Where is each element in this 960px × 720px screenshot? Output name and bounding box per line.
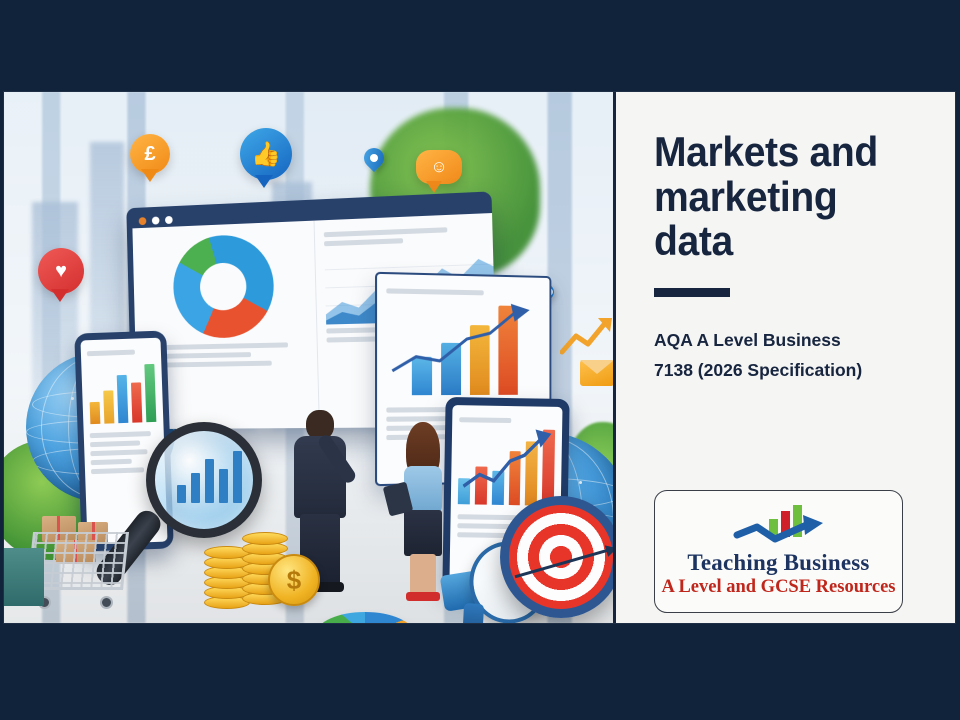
- browser-dot-maximize: [165, 215, 173, 223]
- placeholder-text-line: [91, 467, 144, 474]
- magnified-bar: [177, 485, 186, 503]
- gold-coin: [242, 532, 288, 545]
- phone-bar: [103, 390, 114, 423]
- placeholder-text-line: [386, 288, 483, 295]
- placeholder-text-line: [90, 440, 140, 447]
- placeholder-text-line: [459, 417, 511, 423]
- businesswoman-skirt: [404, 510, 442, 556]
- placeholder-text-line: [90, 449, 147, 456]
- dartboard-target: [500, 496, 616, 618]
- cart-wheel: [100, 596, 113, 609]
- shopping-cart: [12, 510, 140, 622]
- phone-bar: [131, 382, 142, 422]
- envelope-icon: [580, 360, 614, 386]
- donut-chart: [172, 233, 275, 339]
- board-bar-group: [386, 298, 541, 396]
- logo-tagline: A Level and GCSE Resources: [661, 576, 895, 598]
- title-accent-bar: [654, 288, 730, 297]
- slide-root: £ 👍 ♥ ☺ 🌐: [0, 0, 960, 720]
- browser-dot-minimize: [152, 216, 160, 224]
- magnified-bar: [233, 451, 242, 503]
- logo-card[interactable]: Teaching Business A Level and GCSE Resou…: [654, 490, 903, 613]
- dart-arrow-icon: [515, 547, 616, 579]
- illustration-image: £ 👍 ♥ ☺ 🌐: [4, 92, 616, 623]
- shopping-bag: [4, 548, 44, 606]
- heart-bubble-icon: ♥: [38, 248, 84, 294]
- dollar-coin-icon: $: [268, 554, 320, 606]
- subtitle-block: AQA A Level Business 7138 (2026 Specific…: [654, 325, 925, 386]
- logo-chart-arrow-icon: [731, 505, 827, 549]
- trend-line-overlay: [386, 298, 541, 396]
- text-panel: Markets and marketing data AQA A Level B…: [616, 92, 955, 623]
- magnified-bar: [191, 473, 200, 503]
- placeholder-text-line: [87, 350, 135, 357]
- magnified-bar-chart: [177, 451, 242, 503]
- placeholder-text-line: [90, 431, 151, 438]
- subtitle-line-2: 7138 (2026 Specification): [654, 355, 925, 386]
- thumbs-up-bubble-icon: 👍: [240, 128, 292, 180]
- phone-bar: [144, 364, 156, 422]
- magnified-bar: [219, 469, 228, 503]
- title-line-2: marketing data: [654, 173, 837, 265]
- phone-bar: [90, 402, 101, 424]
- logo-name: Teaching Business: [687, 551, 869, 575]
- browser-dot-close: [139, 217, 147, 225]
- trend-arrow-icon: [560, 314, 614, 358]
- megaphone-handle: [462, 603, 484, 623]
- trend-arrow-icon: [458, 426, 555, 506]
- page-title: Markets and marketing data: [654, 130, 906, 264]
- phone-bar: [117, 375, 129, 423]
- user-bubble-icon: ☺: [416, 150, 462, 184]
- magnified-bar: [205, 459, 214, 503]
- placeholder-text-line: [91, 459, 132, 465]
- subtitle-line-1: AQA A Level Business: [654, 325, 925, 356]
- placeholder-text-line: [324, 227, 447, 237]
- pound-bubble-icon: £: [130, 134, 170, 174]
- tablet-bar-group: [458, 426, 555, 506]
- content-panel: £ 👍 ♥ ☺ 🌐: [4, 92, 955, 623]
- placeholder-text-line: [324, 238, 403, 246]
- title-line-1: Markets and: [654, 128, 878, 175]
- phone-bar-group: [87, 358, 157, 424]
